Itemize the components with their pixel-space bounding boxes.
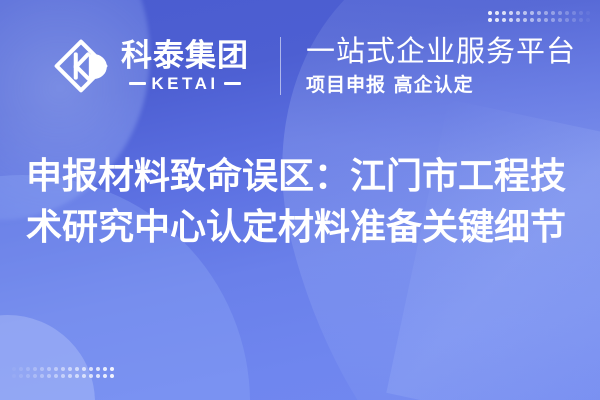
slogan-main: 一站式企业服务平台 [306, 35, 576, 69]
dot [47, 367, 51, 371]
dot [110, 374, 114, 378]
dot [12, 374, 16, 378]
dot-row [12, 367, 114, 371]
dot-row [12, 374, 114, 378]
slogan-block: 一站式企业服务平台 项目申报 高企认定 [306, 35, 576, 98]
dot [33, 374, 37, 378]
dot [54, 374, 58, 378]
wordmark-rule-left [129, 82, 146, 85]
decorative-disc-corner [0, 315, 95, 400]
dot [110, 367, 114, 371]
brand-name-cn: 科泰集团 [121, 40, 249, 73]
dot [75, 367, 79, 371]
brand-name-en-row: KETAI [121, 75, 249, 92]
dot-grid-bottom-left [12, 367, 114, 378]
dot [54, 367, 58, 371]
dot [61, 374, 65, 378]
dot [61, 367, 65, 371]
dot [96, 367, 100, 371]
dot [82, 367, 86, 371]
dot [19, 367, 23, 371]
dot [47, 374, 51, 378]
dot [89, 367, 93, 371]
dot [40, 367, 44, 371]
wordmark-rule-right [224, 82, 241, 85]
dot [40, 374, 44, 378]
dot [82, 374, 86, 378]
banner-header: 科泰集团 KETAI 一站式企业服务平台 项目申报 高企认定 [0, 0, 600, 132]
brand-wordmark: 科泰集团 KETAI [121, 40, 249, 93]
dot [26, 374, 30, 378]
brand-lockup: 科泰集团 KETAI [52, 37, 249, 95]
promo-banner: 科泰集团 KETAI 一站式企业服务平台 项目申报 高企认定 申报材料致命误区：… [0, 0, 600, 400]
dot [96, 374, 100, 378]
dot [89, 374, 93, 378]
brand-name-en: KETAI [151, 75, 218, 92]
dot [12, 367, 16, 371]
header-vertical-divider [280, 37, 281, 95]
slogan-sub: 项目申报 高企认定 [306, 73, 576, 98]
dot [19, 374, 23, 378]
ketai-diamond-kd-logo-icon [52, 37, 110, 95]
dot [68, 374, 72, 378]
dot [68, 367, 72, 371]
dot [103, 367, 107, 371]
dot [26, 367, 30, 371]
dot [103, 374, 107, 378]
dot [33, 367, 37, 371]
dot [75, 374, 79, 378]
page-title: 申报材料致命误区：江门市工程技术研究中心认定材料准备关键细节 [0, 150, 600, 252]
